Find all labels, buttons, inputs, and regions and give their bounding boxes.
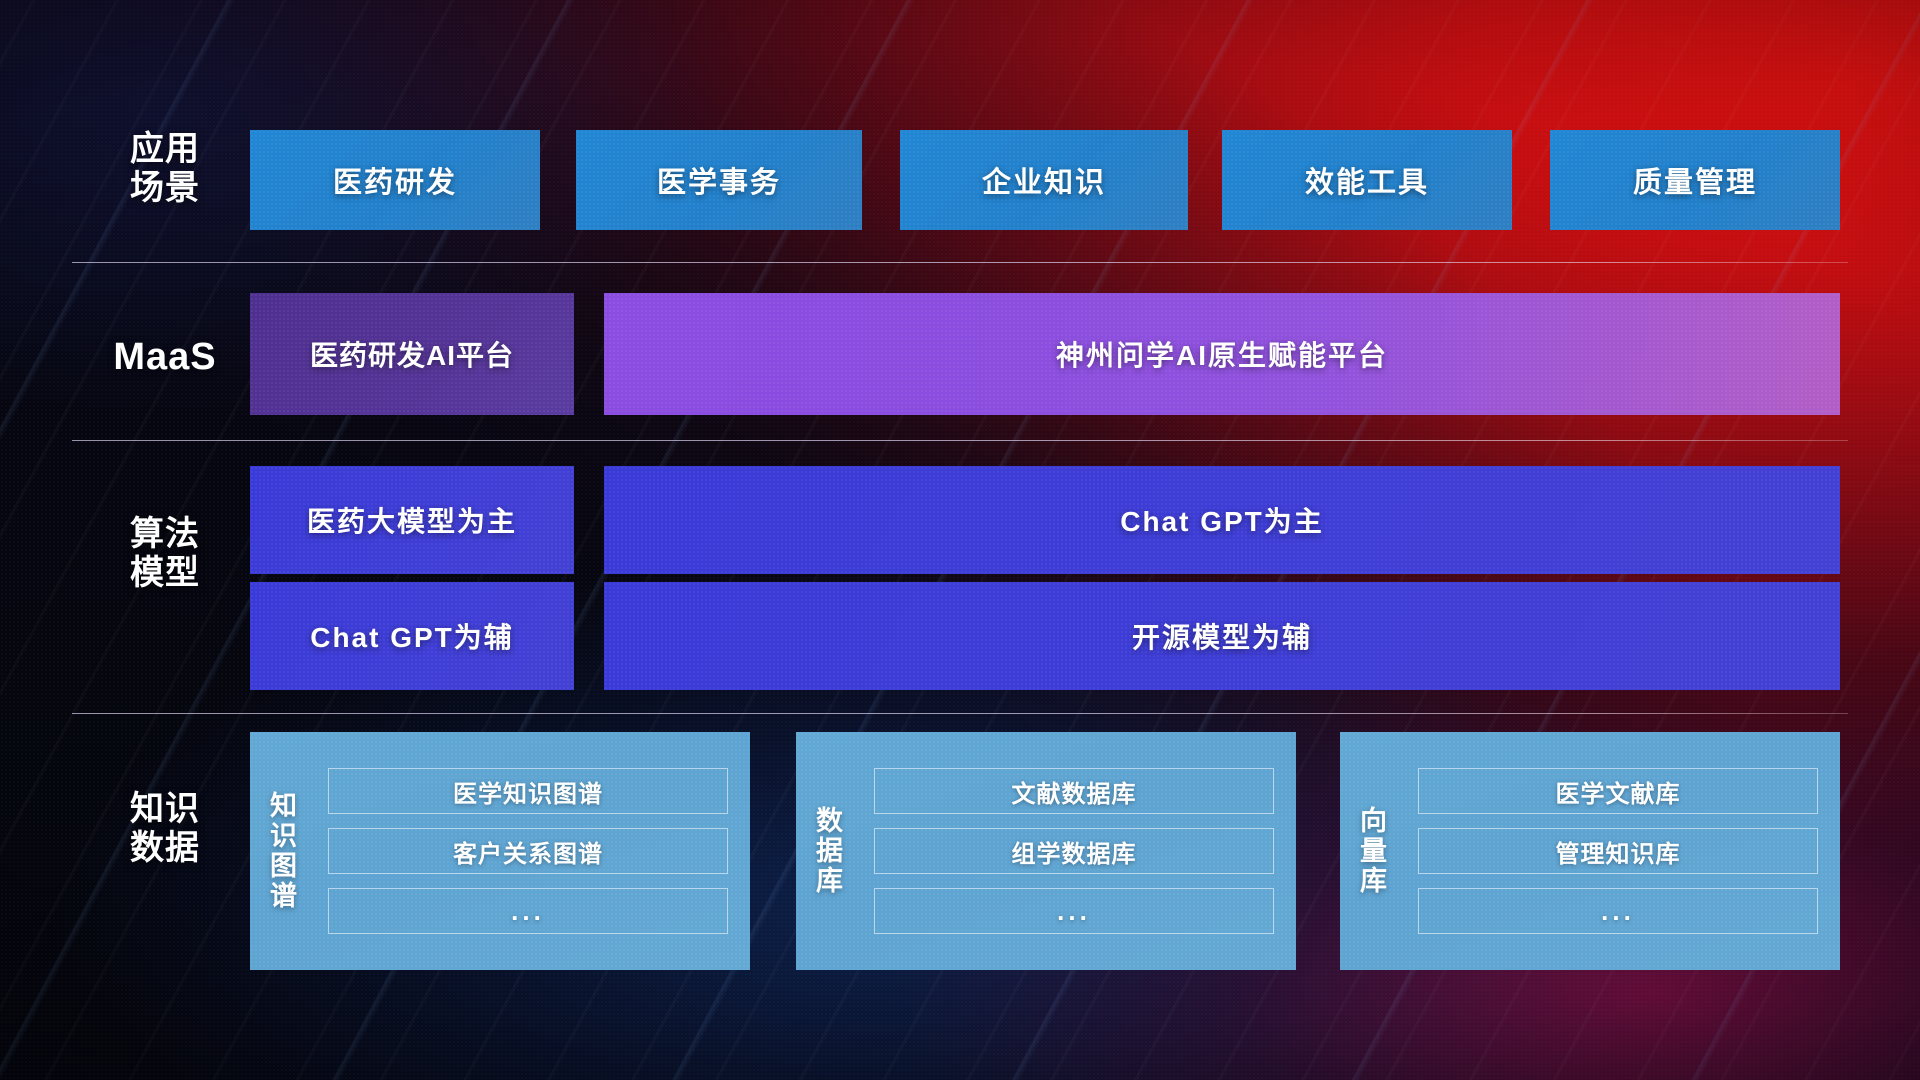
algo-box-label: Chat GPT为辅 (310, 616, 514, 656)
knowledge-item-more[interactable]: ... (1418, 888, 1818, 934)
knowledge-panel-title: 知 识 图 谱 (250, 732, 318, 970)
row-label-algorithm: 算法 模型 (90, 515, 240, 594)
maas-box-label: 医药研发AI平台 (310, 334, 514, 374)
row-label-maas: MaaS (90, 335, 240, 379)
knowledge-item[interactable]: 客户关系图谱 (328, 828, 728, 874)
app-box-efficiency-tools[interactable]: 效能工具 (1222, 130, 1512, 230)
algo-box-label: 开源模型为辅 (1132, 616, 1312, 656)
knowledge-item-more[interactable]: ... (328, 888, 728, 934)
knowledge-panel-title: 向 量 库 (1340, 732, 1408, 970)
knowledge-item[interactable]: 医学文献库 (1418, 768, 1818, 814)
app-box-medical-affairs[interactable]: 医学事务 (576, 130, 862, 230)
divider-after-application (72, 262, 1848, 263)
algo-box-opensource-secondary[interactable]: 开源模型为辅 (604, 582, 1840, 690)
app-box-medicine-rd[interactable]: 医药研发 (250, 130, 540, 230)
divider-after-algorithm (72, 713, 1848, 714)
algo-box-chatgpt-secondary[interactable]: Chat GPT为辅 (250, 582, 574, 690)
knowledge-item-more[interactable]: ... (874, 888, 1274, 934)
maas-box-shenzhou-platform[interactable]: 神州问学AI原生赋能平台 (604, 293, 1840, 415)
knowledge-panel-title: 数 据 库 (796, 732, 864, 970)
app-box-label: 质量管理 (1633, 159, 1757, 201)
algo-box-chatgpt-primary[interactable]: Chat GPT为主 (604, 466, 1840, 574)
architecture-diagram: 应用 场景 医药研发 医学事务 企业知识 效能工具 质量管理 MaaS 医药研发… (0, 0, 1920, 1080)
knowledge-item[interactable]: 医学知识图谱 (328, 768, 728, 814)
divider-after-maas (72, 440, 1848, 441)
knowledge-item[interactable]: 组学数据库 (874, 828, 1274, 874)
slide-canvas: 应用 场景 医药研发 医学事务 企业知识 效能工具 质量管理 MaaS 医药研发… (0, 0, 1920, 1080)
app-box-label: 企业知识 (982, 159, 1106, 201)
app-box-label: 医学事务 (657, 159, 781, 201)
app-box-label: 效能工具 (1305, 159, 1429, 201)
row-label-knowledge: 知识 数据 (90, 790, 240, 869)
knowledge-panel-vector-store[interactable]: 向 量 库 医学文献库 管理知识库 ... (1340, 732, 1840, 970)
app-box-label: 医药研发 (333, 159, 457, 201)
app-box-enterprise-knowledge[interactable]: 企业知识 (900, 130, 1188, 230)
knowledge-panel-item-list: 文献数据库 组学数据库 ... (864, 732, 1296, 970)
algo-box-medicine-llm-primary[interactable]: 医药大模型为主 (250, 466, 574, 574)
app-box-quality-management[interactable]: 质量管理 (1550, 130, 1840, 230)
knowledge-panel-knowledge-graph[interactable]: 知 识 图 谱 医学知识图谱 客户关系图谱 ... (250, 732, 750, 970)
knowledge-item[interactable]: 管理知识库 (1418, 828, 1818, 874)
knowledge-item[interactable]: 文献数据库 (874, 768, 1274, 814)
maas-box-label: 神州问学AI原生赋能平台 (1056, 334, 1388, 374)
maas-box-medicine-ai-platform[interactable]: 医药研发AI平台 (250, 293, 574, 415)
row-label-application: 应用 场景 (90, 130, 240, 209)
algo-box-label: Chat GPT为主 (1120, 500, 1324, 540)
knowledge-panel-item-list: 医学知识图谱 客户关系图谱 ... (318, 732, 750, 970)
knowledge-panel-database[interactable]: 数 据 库 文献数据库 组学数据库 ... (796, 732, 1296, 970)
algo-box-label: 医药大模型为主 (307, 500, 517, 540)
knowledge-panel-item-list: 医学文献库 管理知识库 ... (1408, 732, 1840, 970)
